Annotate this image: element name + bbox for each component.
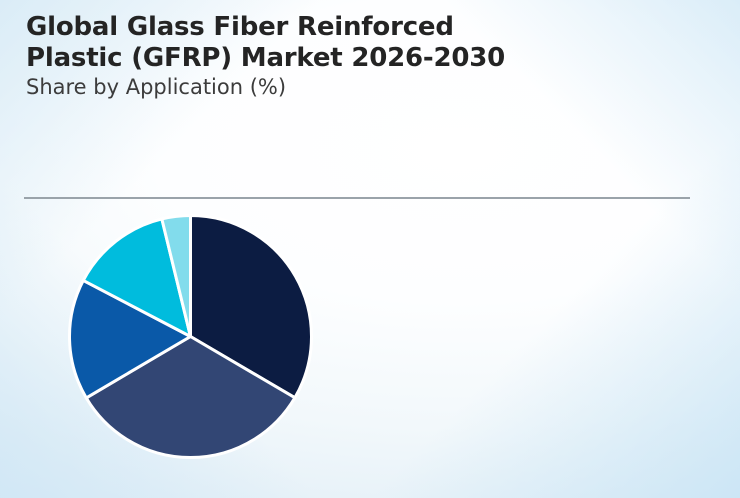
chart-header: Global Glass Fiber Reinforced Plastic (G…: [26, 12, 706, 101]
chart-title: Global Glass Fiber Reinforced Plastic (G…: [26, 12, 706, 73]
infographic-canvas: Global Glass Fiber Reinforced Plastic (G…: [0, 0, 740, 498]
pie-chart-svg: [66, 212, 315, 461]
chart-subtitle: Share by Application (%): [26, 75, 706, 100]
header-divider: [24, 197, 690, 199]
pie-chart: [66, 212, 315, 461]
